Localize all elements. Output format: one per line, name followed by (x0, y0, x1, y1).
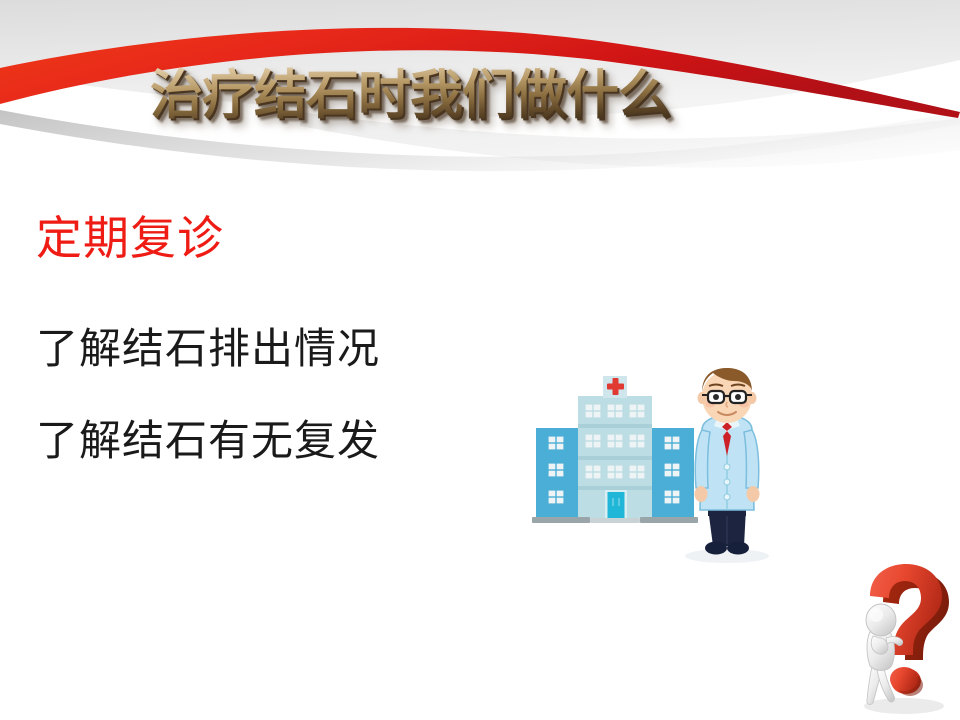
presentation-slide: 治疗结石时我们做什么 定期复诊 了解结石排出情况 了解结石有无复发 (0, 0, 960, 720)
glasses-icon (702, 391, 752, 403)
question-mark-stem (870, 564, 942, 655)
doctor-tie (723, 431, 731, 456)
question-mark-shadow (883, 572, 949, 660)
question-mark-illustration (846, 562, 958, 718)
lead-heading: 定期复诊 (36, 212, 516, 264)
question-mark-dot (891, 668, 921, 694)
doctor-character-icon (685, 368, 769, 563)
bullet-line-1: 了解结石排出情况 (36, 324, 516, 374)
hospital-door (608, 492, 625, 518)
slide-title: 治疗结石时我们做什么 (150, 62, 670, 132)
bullet-line-2: 了解结石有无复发 (36, 416, 516, 466)
thinking-figure (866, 604, 903, 704)
doctor-hair (702, 368, 752, 392)
slide-body: 定期复诊 了解结石排出情况 了解结石有无复发 (36, 212, 516, 508)
hospital-doctor-illustration (530, 368, 795, 568)
hospital-building-icon (532, 376, 698, 523)
red-cross-icon (607, 378, 624, 395)
